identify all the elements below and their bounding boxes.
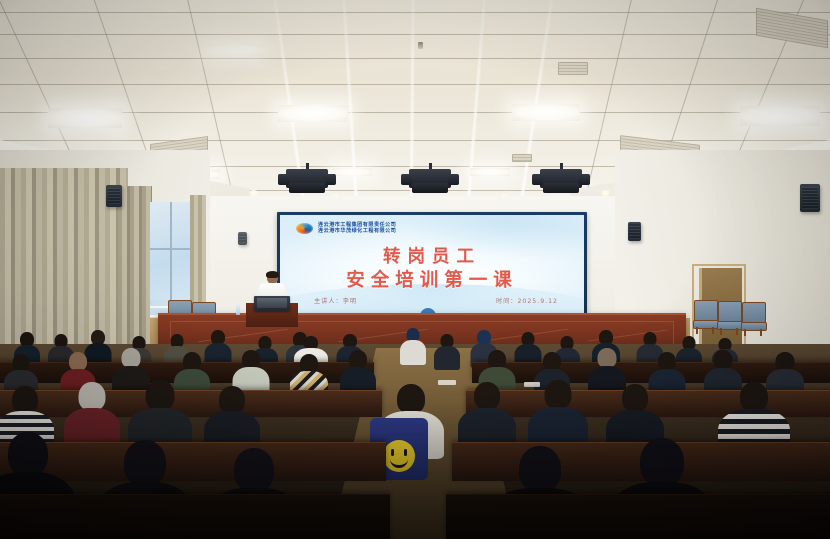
- ceiling-light-panel: [277, 105, 349, 122]
- company-name-line-2: 连云港市华茂绿化工程有限公司: [318, 228, 396, 234]
- bench-row: [0, 494, 390, 539]
- ceiling-mounted-speaker: [409, 163, 451, 193]
- ceiling-mounted-speaker: [286, 163, 328, 193]
- projection-screen[interactable]: 连云港市工程集团有限责任公司 连云港市华茂绿化工程有限公司 转岗员工 安全培训第…: [277, 212, 587, 319]
- laptop[interactable]: [254, 296, 290, 311]
- wall-speaker: [800, 184, 820, 212]
- side-chair[interactable]: [694, 300, 716, 334]
- wall-speaker: [628, 222, 641, 241]
- projection-screen-surface: 连云港市工程集团有限责任公司 连云港市华茂绿化工程有限公司 转岗员工 安全培训第…: [280, 215, 584, 316]
- ceiling-light-panel: [740, 106, 820, 126]
- ceiling-light-panel: [48, 108, 122, 128]
- audience-member: [528, 380, 588, 448]
- training-room-photo: 连云港市工程集团有限责任公司 连云港市华茂绿化工程有限公司 转岗员工 安全培训第…: [0, 0, 830, 539]
- ceiling-light-panel: [205, 44, 263, 57]
- ceiling-light-panel: [511, 104, 580, 121]
- slide-title-line-1: 转岗员工: [280, 247, 584, 269]
- audience-member: [204, 386, 260, 450]
- wall-speaker: [106, 185, 122, 207]
- ceiling-light-panel: [332, 168, 372, 176]
- audience-member: [434, 334, 460, 368]
- date-label: 时间：2025.9.12: [496, 296, 558, 305]
- ceiling-air-vent: [558, 62, 588, 75]
- ceiling-air-vent: [512, 154, 532, 162]
- audience-member: [400, 328, 426, 364]
- wall-speaker: [238, 232, 247, 245]
- company-logo-icon: [296, 223, 313, 234]
- ceiling-mounted-speaker: [540, 163, 582, 193]
- ceiling-air-vent: [756, 8, 828, 49]
- water-bottle: [236, 304, 240, 315]
- slide-title-line-2: 安全培训第一课: [280, 270, 584, 292]
- presenter-label: 主讲人：李明: [314, 296, 357, 305]
- side-chair[interactable]: [742, 302, 764, 336]
- ceiling-light-panel: [470, 168, 510, 176]
- bench-row: [446, 494, 830, 539]
- audience-member: [458, 382, 516, 448]
- smiley-eye-left: [391, 449, 394, 456]
- slide-title: 转岗员工 安全培训第一课: [280, 247, 584, 292]
- side-chair[interactable]: [718, 301, 740, 335]
- smiley-eye-right: [404, 449, 407, 456]
- slide-header: 连云港市工程集团有限责任公司 连云港市华茂绿化工程有限公司: [296, 222, 396, 234]
- slide-meta: 主讲人：李明 时间：2025.9.12: [314, 296, 558, 305]
- sprinkler-head: [418, 42, 423, 49]
